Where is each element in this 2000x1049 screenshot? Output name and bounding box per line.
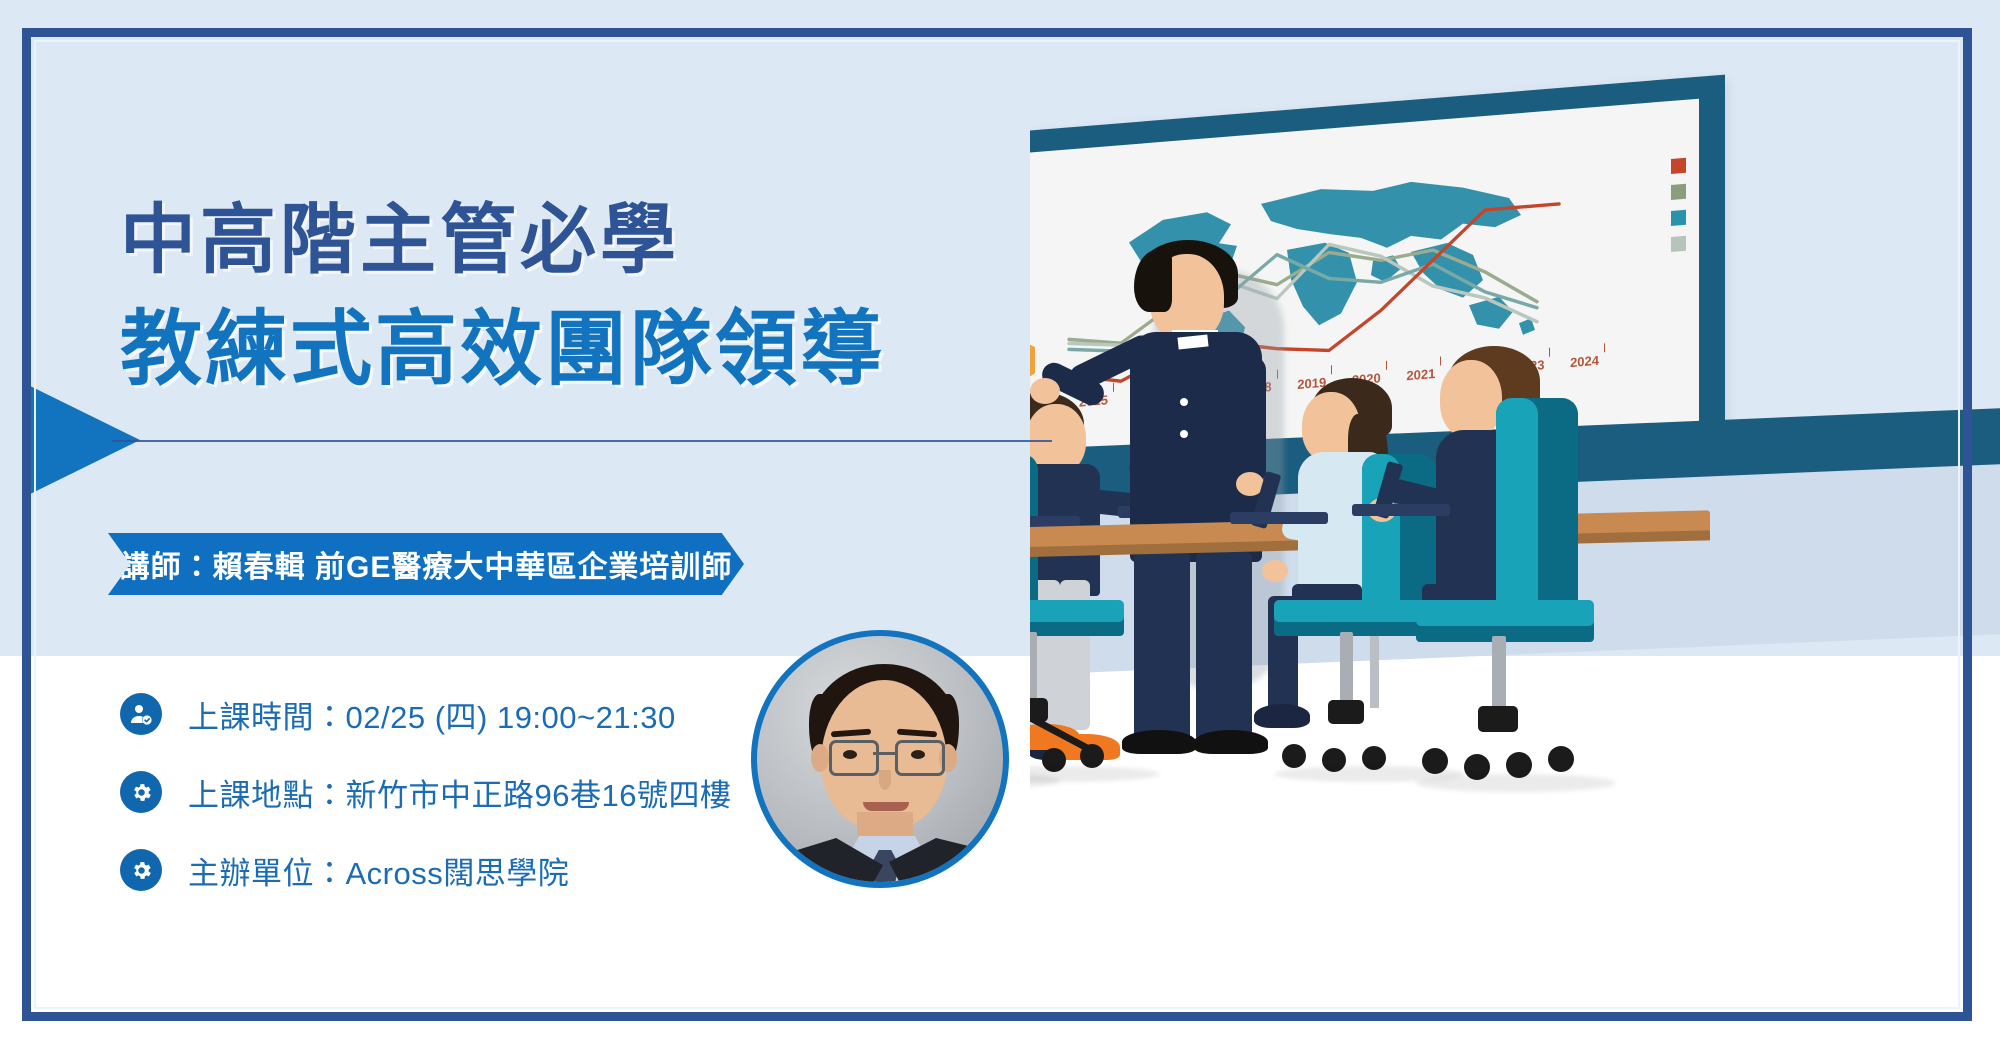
- legend-swatch-teal: [1671, 210, 1686, 226]
- portrait-glasses: [829, 740, 879, 776]
- info-row-class-location: 上課地點：新竹市中正路96巷16號四樓: [120, 768, 731, 816]
- headline-line-1: 中高階主管必學: [120, 178, 680, 288]
- info-text-class-location: 上課地點：新竹市中正路96巷16號四樓: [188, 770, 731, 815]
- info-text-organizer: 主辦單位：Across闊思學院: [188, 848, 569, 893]
- gear-icon: [120, 771, 162, 813]
- laptop-4-base: [1352, 504, 1450, 516]
- info-row-organizer: 主辦單位：Across闊思學院: [120, 846, 731, 894]
- business-meeting-illustration: 2015 2016 2017 2018 2019 2020 2021 2022 …: [1030, 0, 2000, 1049]
- speaker-portrait-avatar: [751, 630, 1009, 888]
- chart-legend: [1671, 158, 1686, 252]
- info-list: 上課時間：02/25 (四) 19:00~21:30 上課地點：新竹市中正路96…: [120, 690, 731, 924]
- speaker-ribbon: 講師：賴春輯 前GE醫療大中華區企業培訓師: [108, 533, 744, 595]
- info-text-class-time: 上課時間：02/25 (四) 19:00~21:30: [188, 692, 676, 737]
- headline-divider: [112, 440, 1052, 442]
- year-tick: 2024: [1570, 352, 1599, 369]
- promo-poster: 2015 2016 2017 2018 2019 2020 2021 2022 …: [0, 0, 2000, 1049]
- user-check-icon: [120, 693, 162, 735]
- info-row-class-time: 上課時間：02/25 (四) 19:00~21:30: [120, 690, 731, 738]
- gear-icon: [120, 849, 162, 891]
- legend-swatch-olive: [1671, 184, 1686, 200]
- left-content-column: 中高階主管必學 教練式高效團隊領導 講師：賴春輯 前GE醫療大中華區企業培訓師 …: [0, 0, 1000, 1049]
- legend-swatch-red: [1671, 158, 1686, 174]
- laptop-3-base: [1230, 512, 1328, 524]
- headline-line-2: 教練式高效團隊領導: [120, 282, 885, 401]
- year-tick: 2021: [1406, 365, 1435, 382]
- legend-swatch-sage: [1671, 236, 1686, 252]
